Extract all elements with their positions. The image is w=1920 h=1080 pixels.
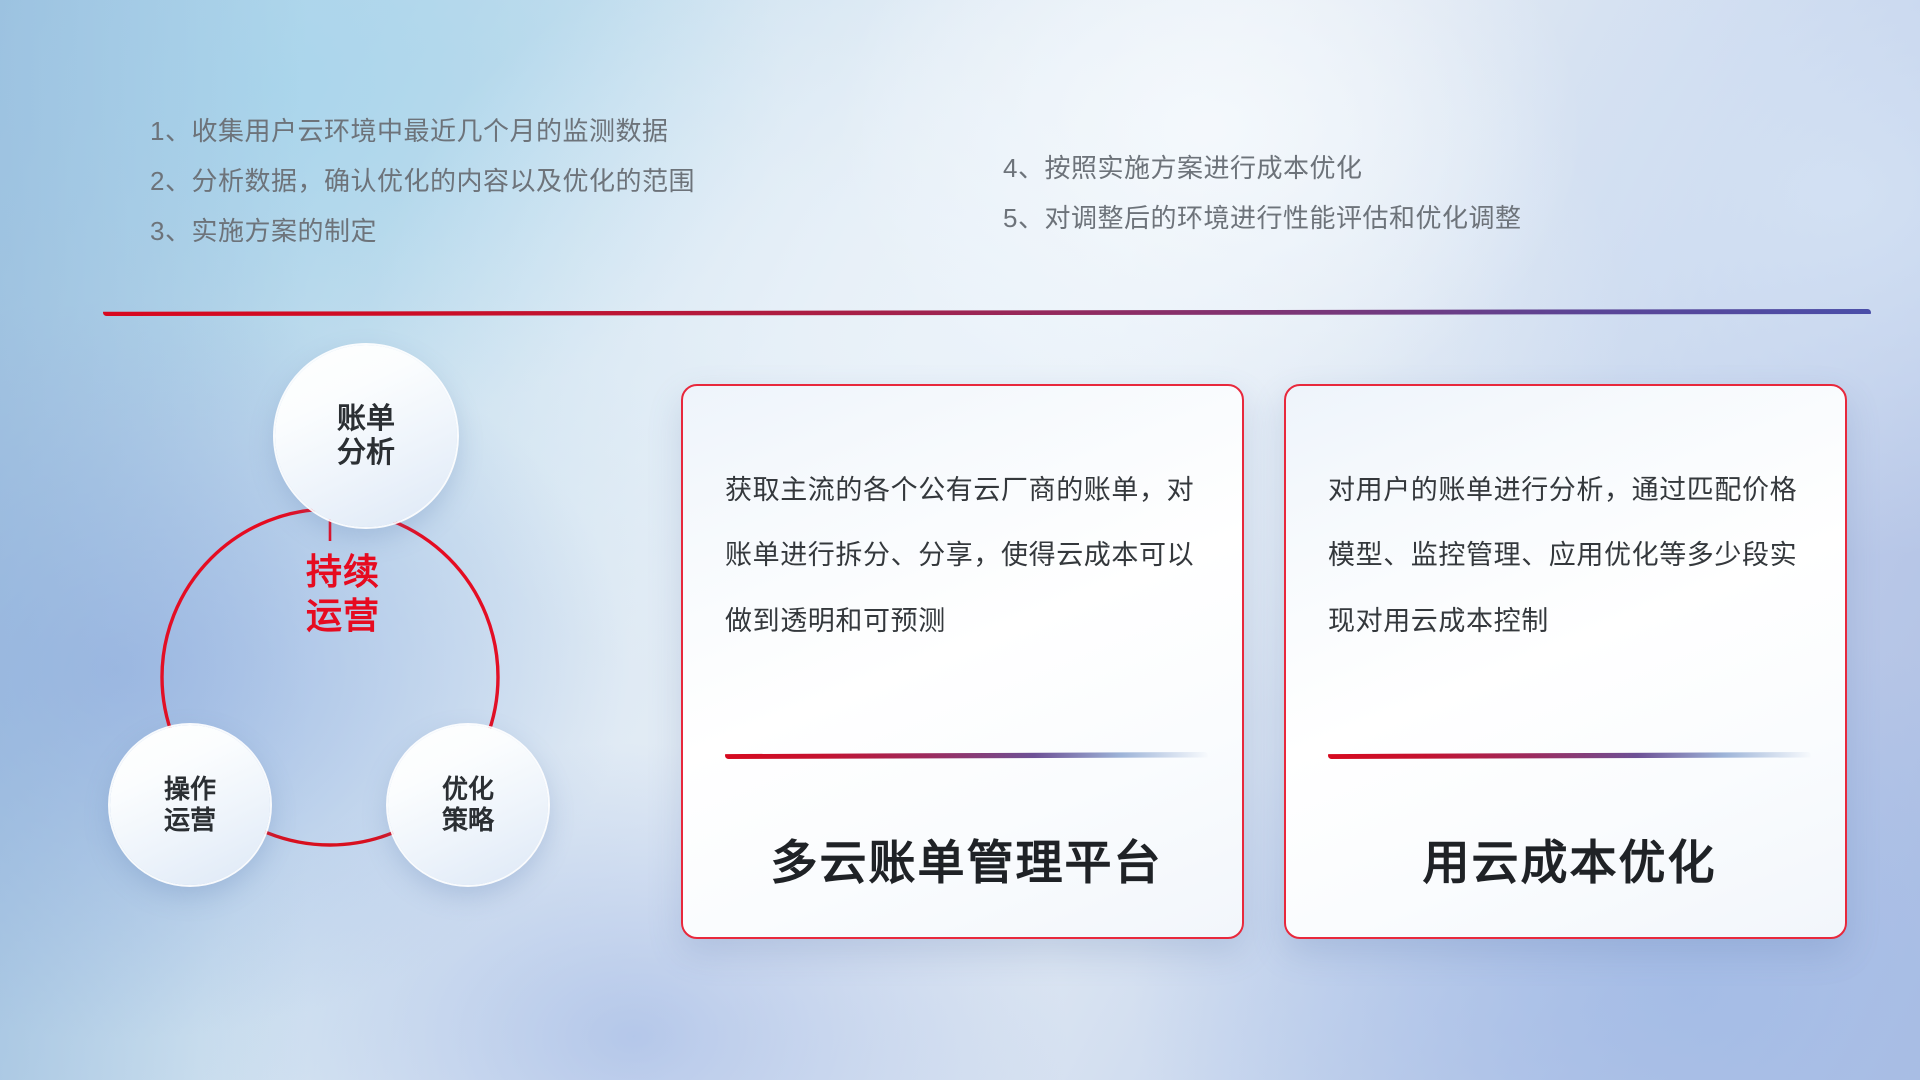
card-title-text: 多云账单管理平台 — [725, 824, 1208, 893]
bubble-label: 账单 分析 — [337, 402, 395, 470]
card-multicloud-billing-platform[interactable]: 获取主流的各个公有云厂商的账单，对账单进行拆分、分享，使得云成本可以做到透明和可… — [681, 384, 1244, 939]
bubble-label-line2: 分析 — [337, 437, 395, 469]
bullet-item-3: 3、实施方案的制定 — [150, 218, 695, 244]
bullet-list-left: 1、收集用户云环境中最近几个月的监测数据 2、分析数据，确认优化的内容以及优化的… — [150, 118, 695, 244]
card-body-text: 获取主流的各个公有云厂商的账单，对账单进行拆分、分享，使得云成本可以做到透明和可… — [725, 458, 1208, 654]
bubble-label-line1: 账单 — [337, 403, 395, 435]
bubble-optimization-strategy[interactable]: 优化 策略 — [388, 725, 548, 885]
card-title-text: 用云成本优化 — [1328, 824, 1811, 893]
bubble-bill-analysis[interactable]: 账单 分析 — [275, 345, 457, 527]
card-body-text: 对用户的账单进行分析，通过匹配价格模型、监控管理、应用优化等多少段实现对用云成本… — [1328, 458, 1811, 654]
bubble-label-line2: 策略 — [442, 805, 494, 835]
bubble-label-line2: 运营 — [164, 805, 216, 835]
bullet-item-1: 1、收集用户云环境中最近几个月的监测数据 — [150, 118, 695, 144]
slide-canvas: 1、收集用户云环境中最近几个月的监测数据 2、分析数据，确认优化的内容以及优化的… — [0, 0, 1920, 1080]
header-separator-rule — [103, 309, 1871, 316]
bubble-operations[interactable]: 操作 运营 — [110, 725, 270, 885]
bullet-item-2: 2、分析数据，确认优化的内容以及优化的范围 — [150, 168, 695, 194]
bullet-list-right: 4、按照实施方案进行成本优化 5、对调整后的环境进行性能评估和优化调整 — [1003, 155, 1521, 231]
bubble-label-line1: 操作 — [164, 774, 216, 804]
bullet-item-4: 4、按照实施方案进行成本优化 — [1003, 155, 1521, 181]
center-label-line1: 持续 — [258, 550, 428, 594]
continuous-operation-diagram: 账单 分析 操作 运营 优化 策略 持续 运营 — [100, 345, 580, 945]
diagram-center-label: 持续 运营 — [258, 550, 428, 638]
bubble-label: 操作 运营 — [164, 774, 216, 835]
bullet-item-5: 5、对调整后的环境进行性能评估和优化调整 — [1003, 205, 1521, 231]
card-divider — [725, 752, 1208, 759]
bubble-label-line1: 优化 — [442, 774, 494, 804]
center-label-line2: 运营 — [258, 594, 428, 638]
card-cloud-cost-optimization[interactable]: 对用户的账单进行分析，通过匹配价格模型、监控管理、应用优化等多少段实现对用云成本… — [1284, 384, 1847, 939]
bubble-label: 优化 策略 — [442, 774, 494, 835]
card-divider — [1328, 752, 1811, 759]
